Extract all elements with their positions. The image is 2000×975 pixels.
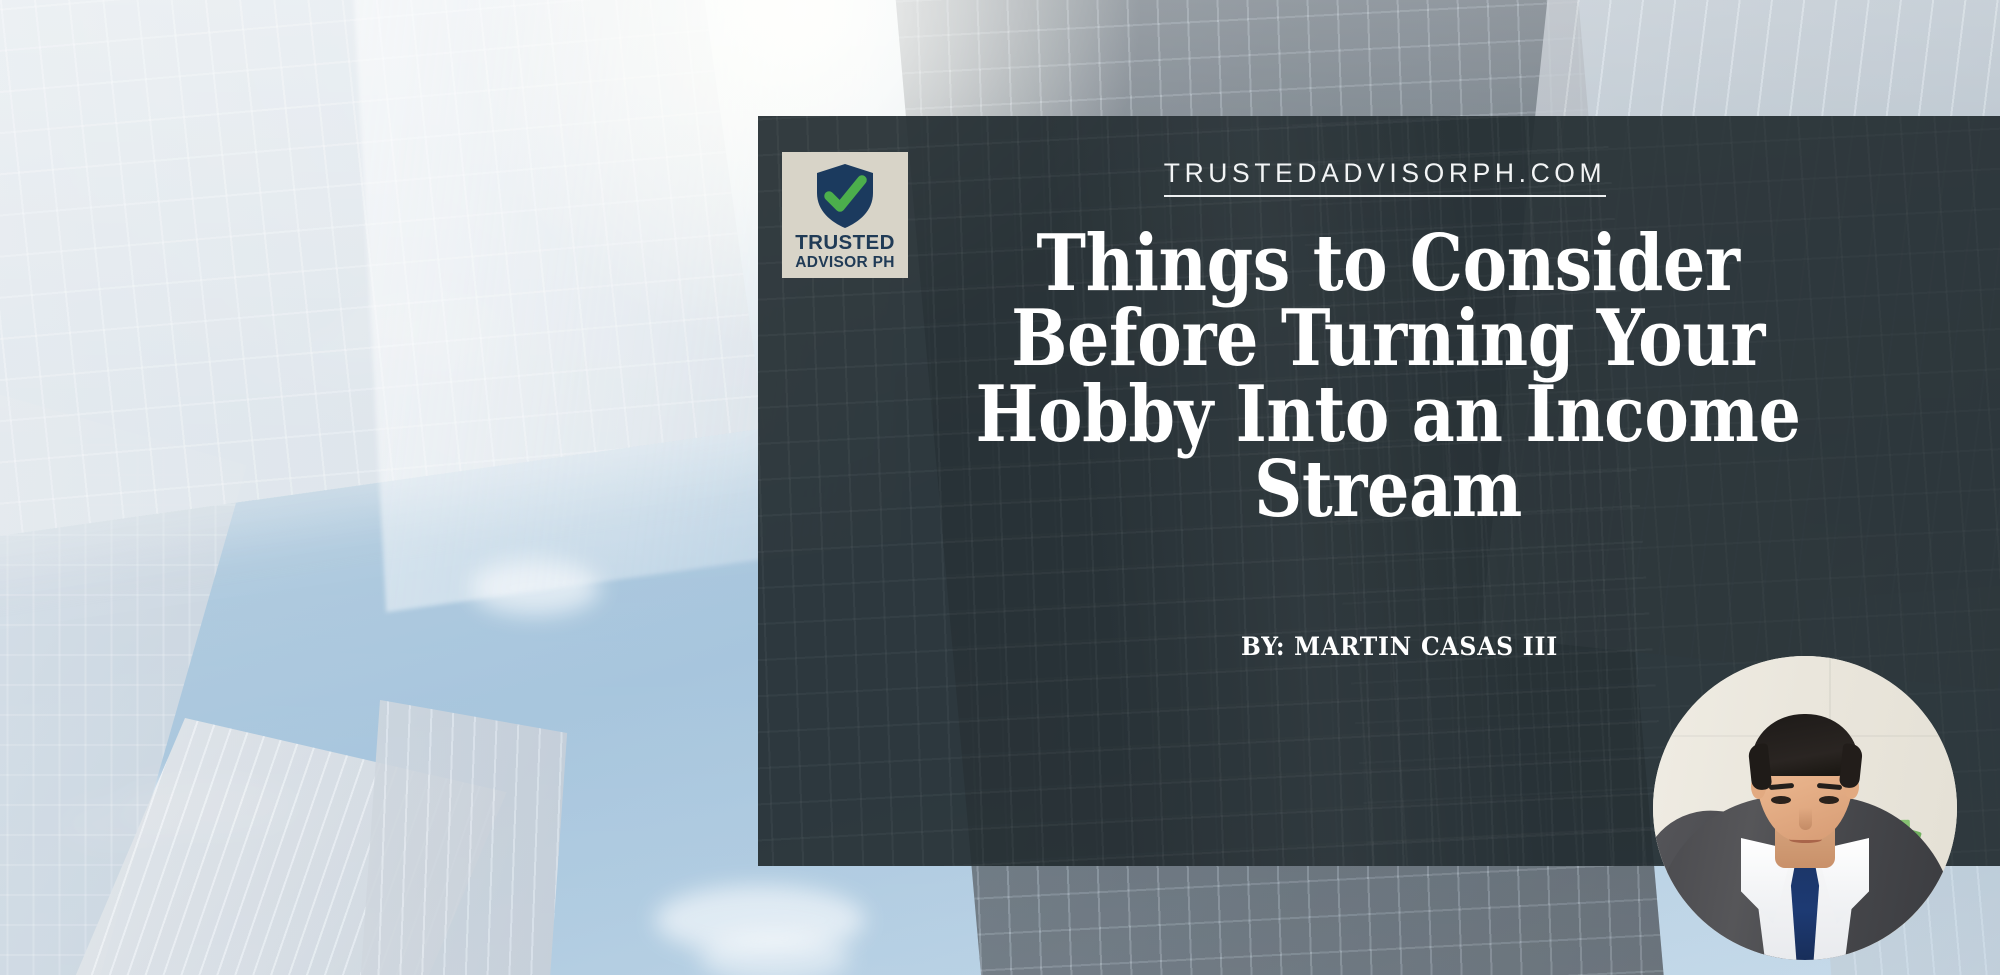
portrait-eye-left	[1771, 796, 1791, 804]
author-byline: BY: MARTIN CASAS III	[806, 632, 1558, 661]
logo-text-trusted: TRUSTED	[795, 233, 895, 254]
article-headline: Things to Consider Before Turning Your H…	[890, 226, 1885, 527]
site-url-link[interactable]: TRUSTEDADVISORPH.COM	[758, 158, 2000, 189]
headline-line-3: Hobby Into an Income	[890, 377, 1885, 452]
article-banner: TRUSTED ADVISOR PH TRUSTEDADVISORPH.COM …	[0, 0, 2000, 975]
author-portrait-avatar	[1653, 656, 1957, 960]
headline-line-2: Before Turning Your	[890, 301, 1885, 376]
portrait-mouth	[1789, 836, 1822, 843]
site-url-text: TRUSTEDADVISORPH.COM	[1164, 158, 1606, 197]
headline-line-4: Stream	[890, 452, 1885, 527]
headline-line-1: Things to Consider	[890, 226, 1885, 301]
building-spire-center-face	[351, 700, 568, 975]
logo-text-advisor-ph: ADVISOR PH	[795, 254, 894, 271]
portrait-nose	[1799, 808, 1812, 830]
portrait-eye-right	[1819, 796, 1839, 804]
